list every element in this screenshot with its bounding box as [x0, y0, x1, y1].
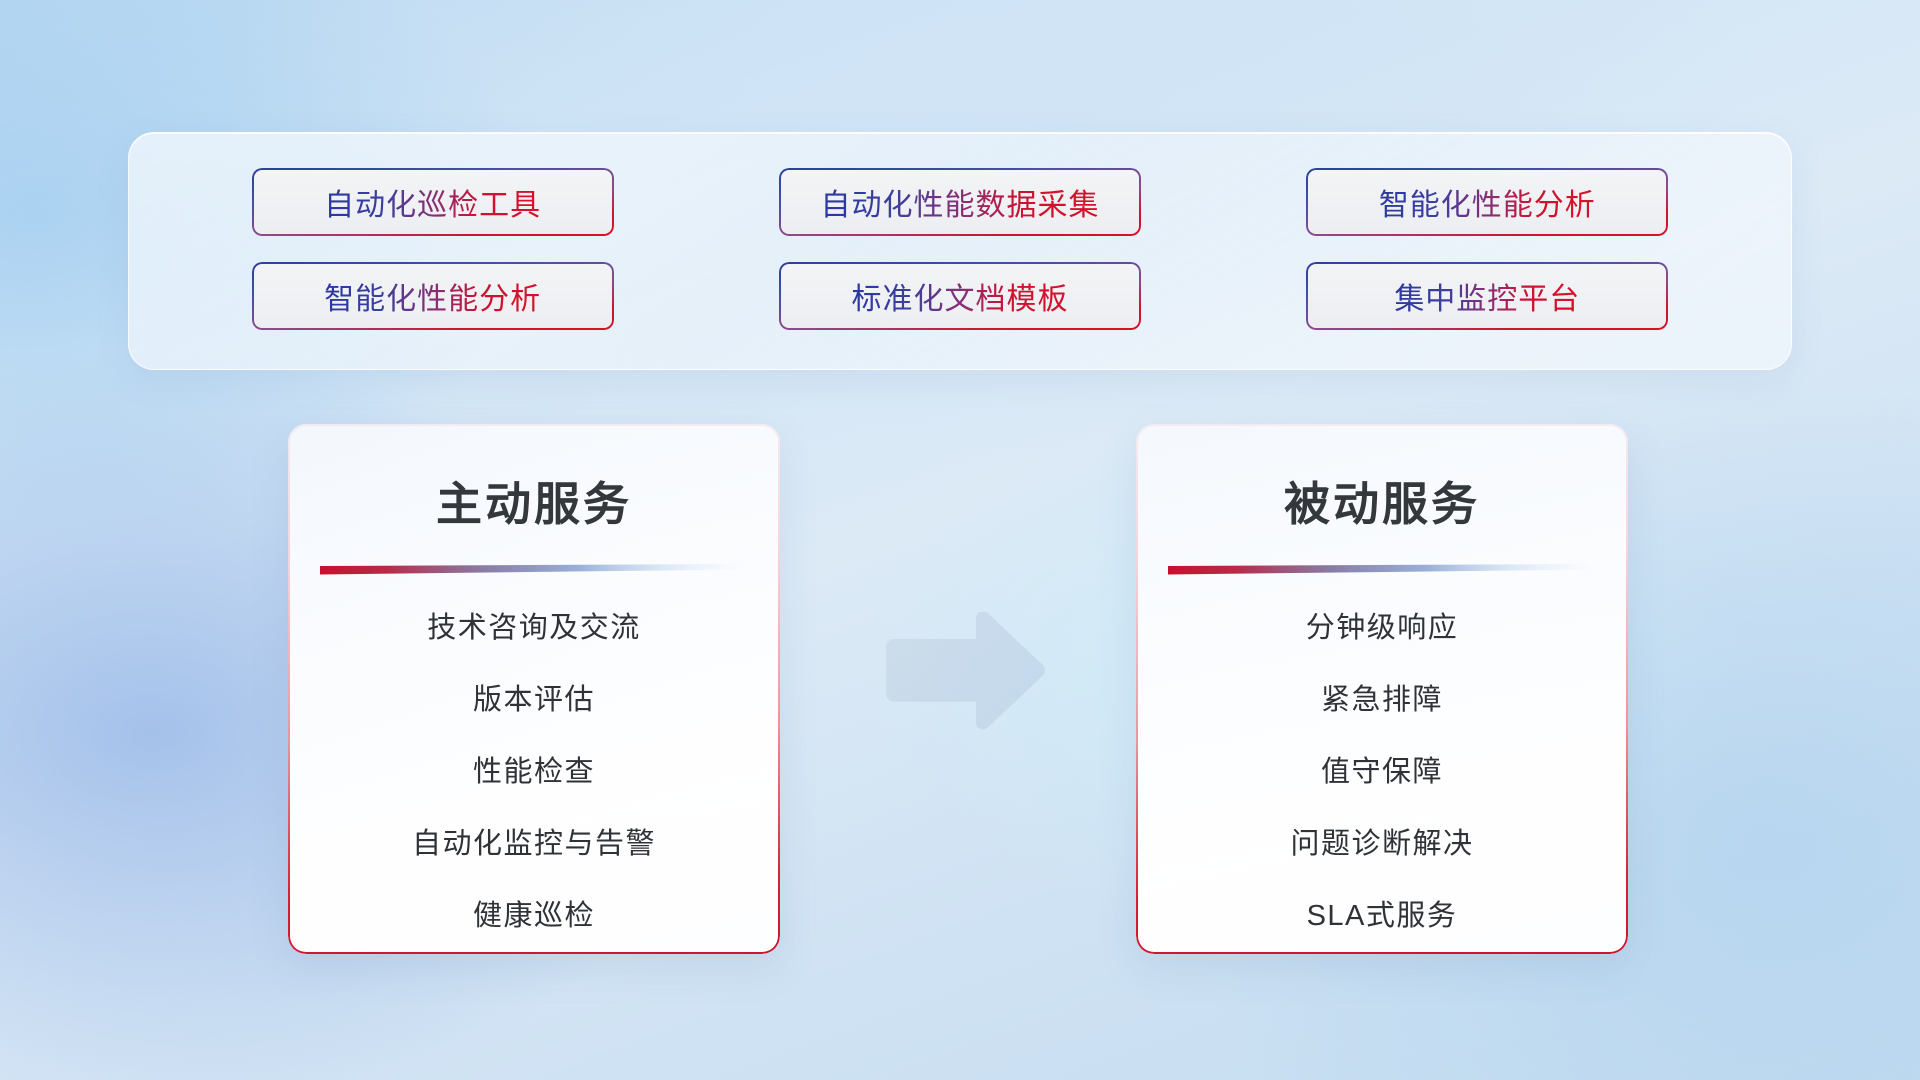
service-card-reactive[interactable]: 被动服务 分钟级响应 紧急排障 值守保障	[1136, 424, 1628, 954]
card-title: 被动服务	[1136, 468, 1628, 534]
list-item: 版本评估	[473, 676, 595, 718]
capability-pill-label: 集中监控平台	[1394, 274, 1580, 318]
capability-pill-label: 智能化性能分析	[324, 274, 541, 318]
list-item: 性能检查	[473, 748, 595, 790]
capability-pill-1[interactable]: 自动化巡检工具	[252, 168, 614, 236]
capability-pill-label: 自动化性能数据采集	[820, 180, 1099, 224]
card-title-divider	[320, 564, 748, 576]
service-list: 分钟级响应 紧急排障 值守保障 问题诊断解决 SLA式服务	[1136, 604, 1628, 934]
list-item: 值守保障	[1321, 748, 1443, 790]
slide-canvas: 自动化巡检工具 自动化性能数据采集 智能化性能分析 智能化性能分析 标准化文档模…	[0, 0, 1920, 1080]
list-item: 自动化监控与告警	[412, 820, 656, 862]
service-list: 技术咨询及交流 版本评估 性能检查 自动化监控与告警 健康巡检	[288, 604, 780, 934]
list-item: 紧急排障	[1321, 676, 1443, 718]
service-card-proactive[interactable]: 主动服务 技术咨询及交流 版本评估 性能检查	[288, 424, 780, 954]
card-title-divider	[1168, 564, 1596, 576]
capability-pill-5[interactable]: 标准化文档模板	[779, 262, 1141, 330]
capability-pill-2[interactable]: 自动化性能数据采集	[779, 168, 1141, 236]
list-item: 问题诊断解决	[1290, 820, 1473, 862]
list-item: 技术咨询及交流	[427, 604, 641, 646]
card-title: 主动服务	[288, 468, 780, 534]
capability-pill-6[interactable]: 集中监控平台	[1306, 262, 1668, 330]
capability-pill-label: 标准化文档模板	[851, 274, 1068, 318]
capability-pill-panel: 自动化巡检工具 自动化性能数据采集 智能化性能分析 智能化性能分析 标准化文档模…	[128, 132, 1792, 370]
arrow-right-icon	[878, 612, 1046, 730]
capability-pill-3[interactable]: 智能化性能分析	[1306, 168, 1668, 236]
capability-pill-4[interactable]: 智能化性能分析	[252, 262, 614, 330]
capability-pill-label: 智能化性能分析	[1379, 180, 1596, 224]
list-item: SLA式服务	[1307, 892, 1458, 934]
capability-pill-label: 自动化巡检工具	[324, 180, 541, 224]
list-item: 分钟级响应	[1306, 604, 1459, 646]
capability-pill-grid: 自动化巡检工具 自动化性能数据采集 智能化性能分析 智能化性能分析 标准化文档模…	[129, 133, 1791, 369]
list-item: 健康巡检	[473, 892, 595, 934]
